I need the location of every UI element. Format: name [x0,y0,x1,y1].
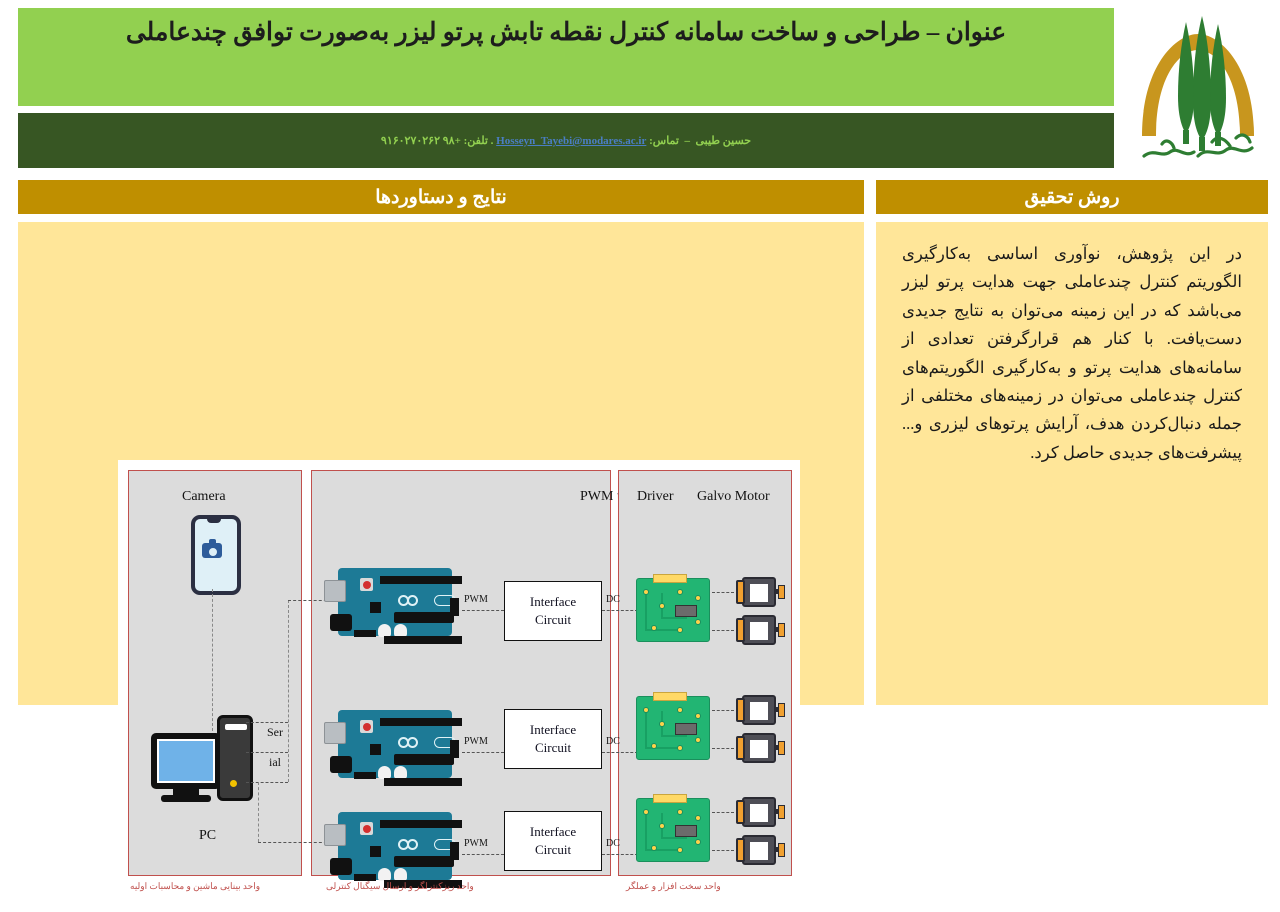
serial-branch-b [246,752,288,753]
caption-hardware-unit: واحد سخت افزار و عملگر [626,881,721,892]
motor-gear [778,703,785,717]
caption-microcontroller-unit: واحد ریزکنترلگر و ارسال سیگنال کنترلی [326,881,474,892]
driver-to-motor-2a [712,710,734,711]
label-pwm-3: PWM [464,838,488,849]
driver-board-3 [636,798,710,862]
label-pc: PC [199,828,216,844]
serial-branch-c [246,782,288,783]
arduino-ic-small [370,602,381,613]
poster-header: عنوان – طراحی و ساخت سامانه کنترل نقطه ت… [18,8,1114,168]
motor-body [742,733,776,763]
label-driver: Driver [637,489,674,505]
group-vision-unit: Camera PC [128,470,302,876]
contact-bar: حسین طیبی – تماس: Hosseyn_Tayebi@modares… [18,113,1114,168]
pc-tower-icon [217,715,253,801]
driver-ic-3 [675,825,697,837]
galvo-motor-3a [732,797,784,827]
caption-vision-unit: واحد بینایی ماشین و محاسبات اولیه [130,881,260,892]
label-camera: Camera [182,489,226,505]
motor-gear [778,585,785,599]
arduino-logo-icon [398,838,432,851]
logo-calligraphy [1144,135,1252,156]
camera-icon [202,543,222,558]
motor-end-cap [736,580,745,604]
monitor-base [161,795,211,802]
motor-body [742,577,776,607]
serial-bus-lower [258,782,259,842]
interface-line-2: Circuit [535,611,571,629]
contact-separator: . [491,135,494,147]
panel-method: در این پژوهش، نوآوری اساسی به‌کارگیری ال… [876,222,1268,705]
label-serial-top: Ser [264,726,286,739]
email-link[interactable]: Hosseyn_Tayebi@modares.ac.ir [496,135,646,147]
motor-window [750,842,768,860]
driver-to-motor-2b [712,748,734,749]
motor-end-cap [736,838,745,862]
arduino-side-header [450,842,459,860]
panel-results: Camera PC PWM to DC [18,222,864,705]
motor-body [742,615,776,645]
arduino-header-bottom [384,778,462,786]
interface-circuit-1: Interface Circuit [504,581,602,641]
serial-to-row3 [258,842,332,843]
dc-wire-3 [602,854,638,855]
interface-line-2: Circuit [535,841,571,859]
arduino-header-top [380,576,462,584]
interface-line-1: Interface [530,721,576,739]
interface-line-2: Circuit [535,739,571,757]
dc-wire-1 [602,610,638,611]
driver-ic-1 [675,605,697,617]
arduino-reset-button [360,720,373,733]
label-dc-2: DC [606,736,620,747]
page-title: عنوان – طراحی و ساخت سامانه کنترل نقطه ت… [100,8,1032,48]
galvo-motor-2a [732,695,784,725]
driver-to-motor-1a [712,592,734,593]
arduino-ic-small [370,846,381,857]
arduino-pcb [338,568,452,636]
arduino-board-2 [324,702,456,782]
section-header-method: روش تحقیق [876,180,1268,214]
arduino-power-jack [330,614,352,631]
galvo-motor-1b [732,615,784,645]
monitor-screen [157,739,215,783]
driver-ic-2 [675,723,697,735]
arduino-pcb [338,812,452,880]
motor-window [750,702,768,720]
arduino-pcb [338,710,452,778]
cypress-group [1178,16,1226,151]
tower-power-led [230,780,237,787]
arduino-side-header [450,598,459,616]
interface-line-1: Interface [530,593,576,611]
arduino-header-bottom [384,636,462,644]
galvo-motor-3b [732,835,784,865]
arduino-mcu-chip [394,856,454,867]
driver-connector-3 [653,794,687,803]
motor-body [742,695,776,725]
motor-end-cap [736,698,745,722]
motor-gear [778,623,785,637]
motor-gear [778,843,785,857]
pwm-wire-3 [462,854,504,855]
section-header-results: نتایج و دستاوردها [18,180,864,214]
arduino-header-top [380,718,462,726]
link-camera-to-pc [212,589,213,731]
serial-branch-a [246,722,288,723]
driver-board-1 [636,578,710,642]
dc-wire-2 [602,752,638,753]
motor-body [742,797,776,827]
contact-label: تماس: [649,135,679,147]
label-dc-1: DC [606,594,620,605]
driver-connector-2 [653,692,687,701]
title-bar: عنوان – طراحی و ساخت سامانه کنترل نقطه ت… [18,8,1114,106]
poster-root: عنوان – طراحی و ساخت سامانه کنترل نقطه ت… [0,0,1280,720]
motor-gear [778,805,785,819]
galvo-motor-1a [732,577,784,607]
motor-gear [778,741,785,755]
driver-connector-1 [653,574,687,583]
driver-to-motor-3b [712,850,734,851]
author-name: حسین طیبی [695,135,751,147]
method-body-text: در این پژوهش، نوآوری اساسی به‌کارگیری ال… [876,222,1268,467]
interface-circuit-3: Interface Circuit [504,811,602,871]
logo-artwork [1128,10,1268,165]
arduino-mcu-chip [394,612,454,623]
motor-end-cap [736,800,745,824]
pc-monitor-icon [151,733,221,789]
arduino-header-bottom-left [354,630,376,637]
motor-end-cap [736,618,745,642]
arduino-power-jack [330,756,352,773]
phone-label: تلفن: [464,135,488,147]
arduino-power-jack [330,858,352,875]
driver-board-2 [636,696,710,760]
arduino-board-1 [324,560,456,640]
label-galvo-motor: Galvo Motor [697,489,770,505]
label-pwm-2: PWM [464,736,488,747]
arduino-board-3 [324,804,456,884]
arduino-side-header [450,740,459,758]
motor-window [750,622,768,640]
university-logo [1128,10,1268,165]
label-serial-bottom: ial [264,756,286,769]
driver-to-motor-1b [712,630,734,631]
arduino-reset-button [360,578,373,591]
phone-number: +۹۸ ۹۱۶۰۲۷۰۲۶۲ [381,135,461,147]
motor-window [750,584,768,602]
tower-drive-slot [225,724,247,730]
arduino-logo-icon [398,594,432,607]
galvo-motor-2b [732,733,784,763]
system-block-diagram: Camera PC PWM to DC [118,460,800,912]
interface-line-1: Interface [530,823,576,841]
arduino-ic-small [370,744,381,755]
arduino-usb-port [324,722,346,744]
pwm-wire-1 [462,610,504,611]
label-dc-3: DC [606,838,620,849]
motor-window [750,740,768,758]
arduino-header-top [380,820,462,828]
motor-window [750,804,768,822]
arduino-usb-port [324,580,346,602]
label-pwm-1: PWM [464,594,488,605]
contact-dash: – [682,135,693,147]
driver-to-motor-3a [712,812,734,813]
interface-circuit-2: Interface Circuit [504,709,602,769]
arduino-header-bottom-left [354,772,376,779]
motor-body [742,835,776,865]
arduino-logo-icon [398,736,432,749]
arduino-reset-button [360,822,373,835]
phone-notch [207,518,221,523]
camera-phone-icon [191,515,241,595]
serial-bus-vertical [288,600,289,782]
contact-line: حسین طیبی – تماس: Hosseyn_Tayebi@modares… [381,134,751,147]
arduino-mcu-chip [394,754,454,765]
motor-end-cap [736,736,745,760]
pwm-wire-2 [462,752,504,753]
arduino-header-bottom-left [354,874,376,881]
arduino-usb-port [324,824,346,846]
